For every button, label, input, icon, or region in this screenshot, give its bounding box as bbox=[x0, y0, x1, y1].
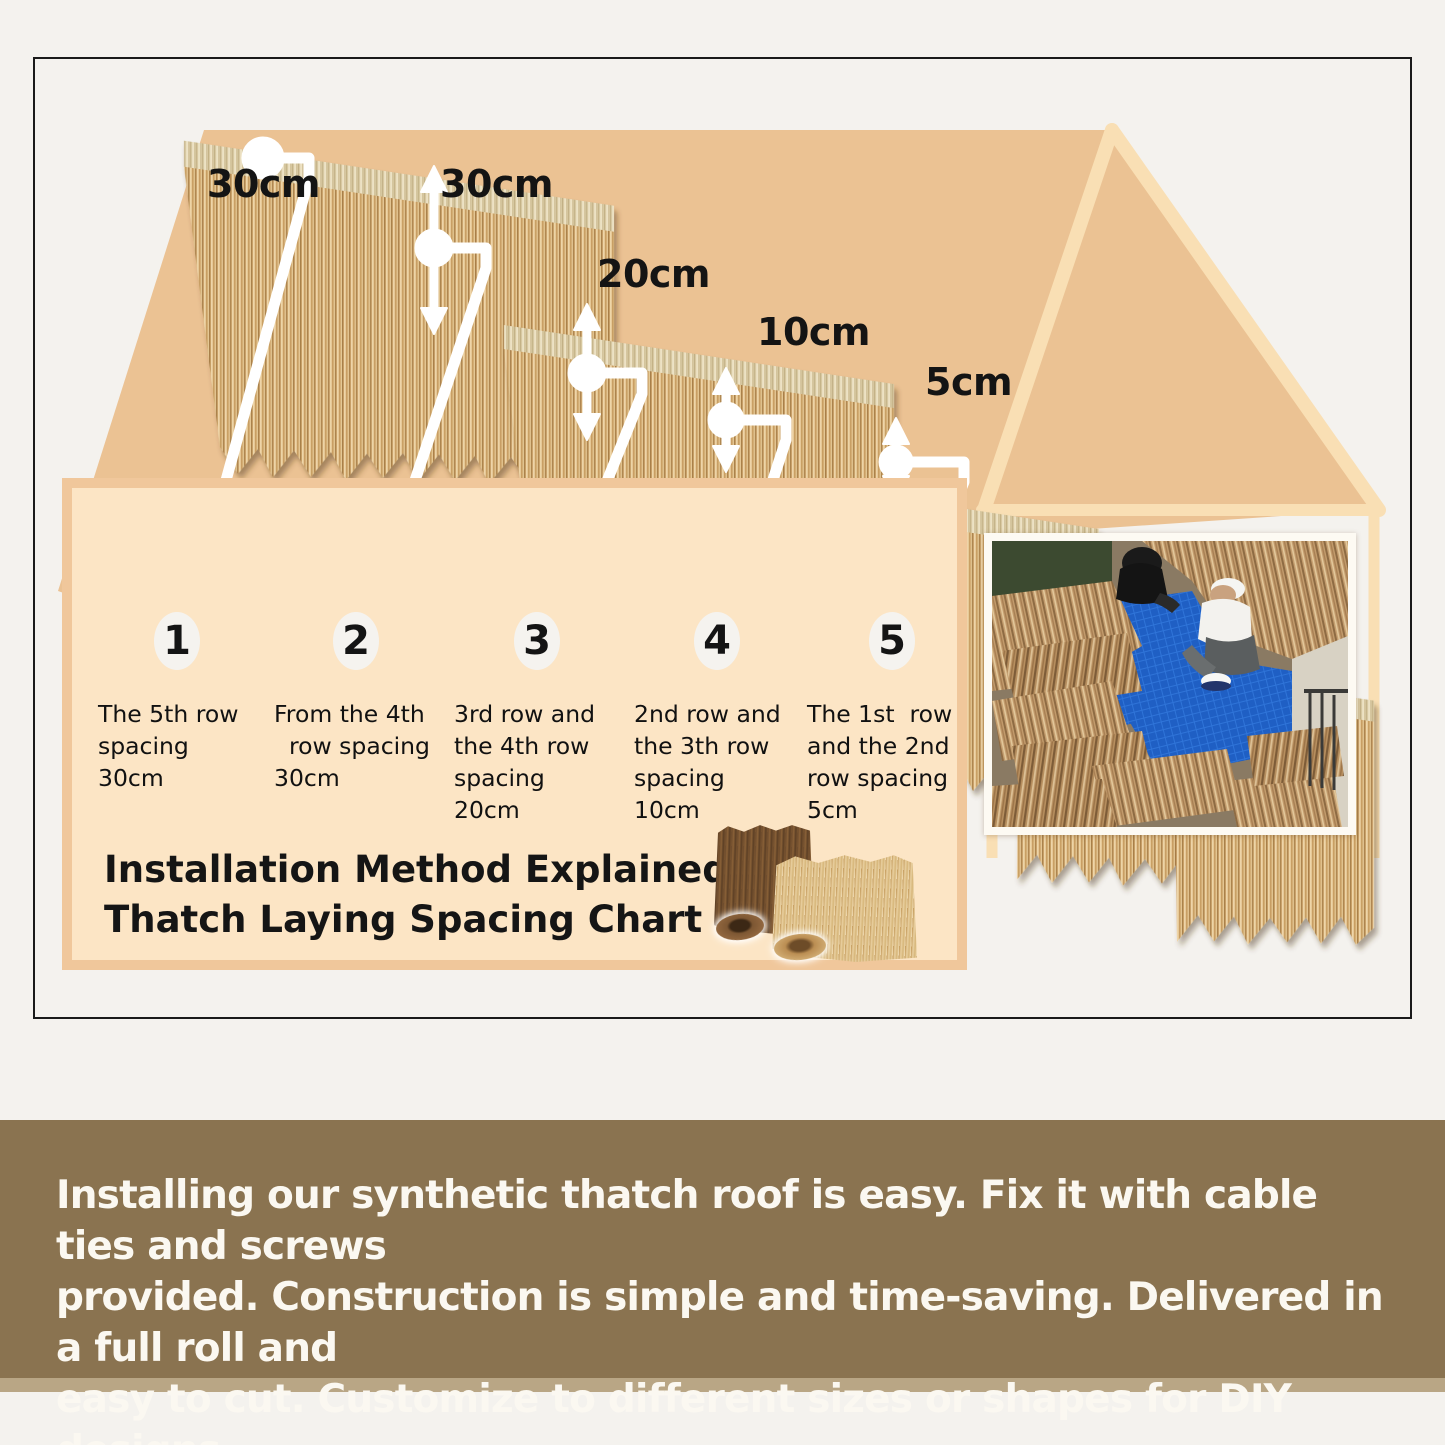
banner-text: Installing our synthetic thatch roof is … bbox=[56, 1170, 1396, 1445]
caption-5-line-2: and the 2nd bbox=[807, 730, 982, 762]
caption-4-line-3: spacing bbox=[634, 762, 809, 794]
badge-4: 4 bbox=[694, 612, 740, 670]
caption-2-line-2: row spacing bbox=[274, 730, 449, 762]
dimension-label-3: 20cm bbox=[597, 252, 710, 296]
caption-1: The 5th row spacing 30cm bbox=[98, 698, 273, 794]
caption-2: From the 4th row spacing 30cm bbox=[274, 698, 449, 794]
caption-2-line-1: From the 4th bbox=[274, 698, 449, 730]
caption-5-line-3: row spacing bbox=[807, 762, 982, 794]
installation-photo-artwork bbox=[992, 541, 1348, 827]
product-thatch-rolls bbox=[700, 818, 950, 963]
dimension-label-2: 30cm bbox=[440, 162, 553, 206]
page-title-line-1: Installation Method Explained : bbox=[104, 845, 756, 895]
banner-line-1: Installing our synthetic thatch roof is … bbox=[56, 1170, 1396, 1272]
caption-3-line-1: 3rd row and bbox=[454, 698, 629, 730]
badge-2: 2 bbox=[333, 612, 379, 670]
caption-3: 3rd row and the 4th row spacing 20cm bbox=[454, 698, 629, 826]
caption-2-line-3: 30cm bbox=[274, 762, 449, 794]
caption-1-line-3: 30cm bbox=[98, 762, 273, 794]
caption-5-line-1: The 1st row bbox=[807, 698, 982, 730]
banner-line-3: easy to cut. Customize to different size… bbox=[56, 1374, 1396, 1445]
caption-1-line-1: The 5th row bbox=[98, 698, 273, 730]
caption-3-line-4: 20cm bbox=[454, 794, 629, 826]
caption-1-line-2: spacing bbox=[98, 730, 273, 762]
infographic-root: 30cm 30cm 20cm 10cm 5cm 1 2 3 4 5 The 5t… bbox=[0, 0, 1445, 1445]
installation-photo bbox=[992, 541, 1348, 827]
badge-5: 5 bbox=[869, 612, 915, 670]
badge-1: 1 bbox=[154, 612, 200, 670]
caption-4: 2nd row and the 3th row spacing 10cm bbox=[634, 698, 809, 826]
caption-3-line-2: the 4th row bbox=[454, 730, 629, 762]
page-title: Installation Method Explained : Thatch L… bbox=[104, 845, 756, 945]
dimension-label-5: 5cm bbox=[925, 360, 1012, 404]
page-title-line-2: Thatch Laying Spacing Chart bbox=[104, 895, 756, 945]
dimension-label-1: 30cm bbox=[207, 162, 320, 206]
caption-3-line-3: spacing bbox=[454, 762, 629, 794]
badge-3: 3 bbox=[514, 612, 560, 670]
caption-4-line-1: 2nd row and bbox=[634, 698, 809, 730]
dimension-label-4: 10cm bbox=[757, 310, 870, 354]
caption-5: The 1st row and the 2nd row spacing 5cm bbox=[807, 698, 982, 826]
installation-photo-frame bbox=[984, 533, 1356, 835]
caption-4-line-2: the 3th row bbox=[634, 730, 809, 762]
banner-line-2: provided. Construction is simple and tim… bbox=[56, 1272, 1396, 1374]
